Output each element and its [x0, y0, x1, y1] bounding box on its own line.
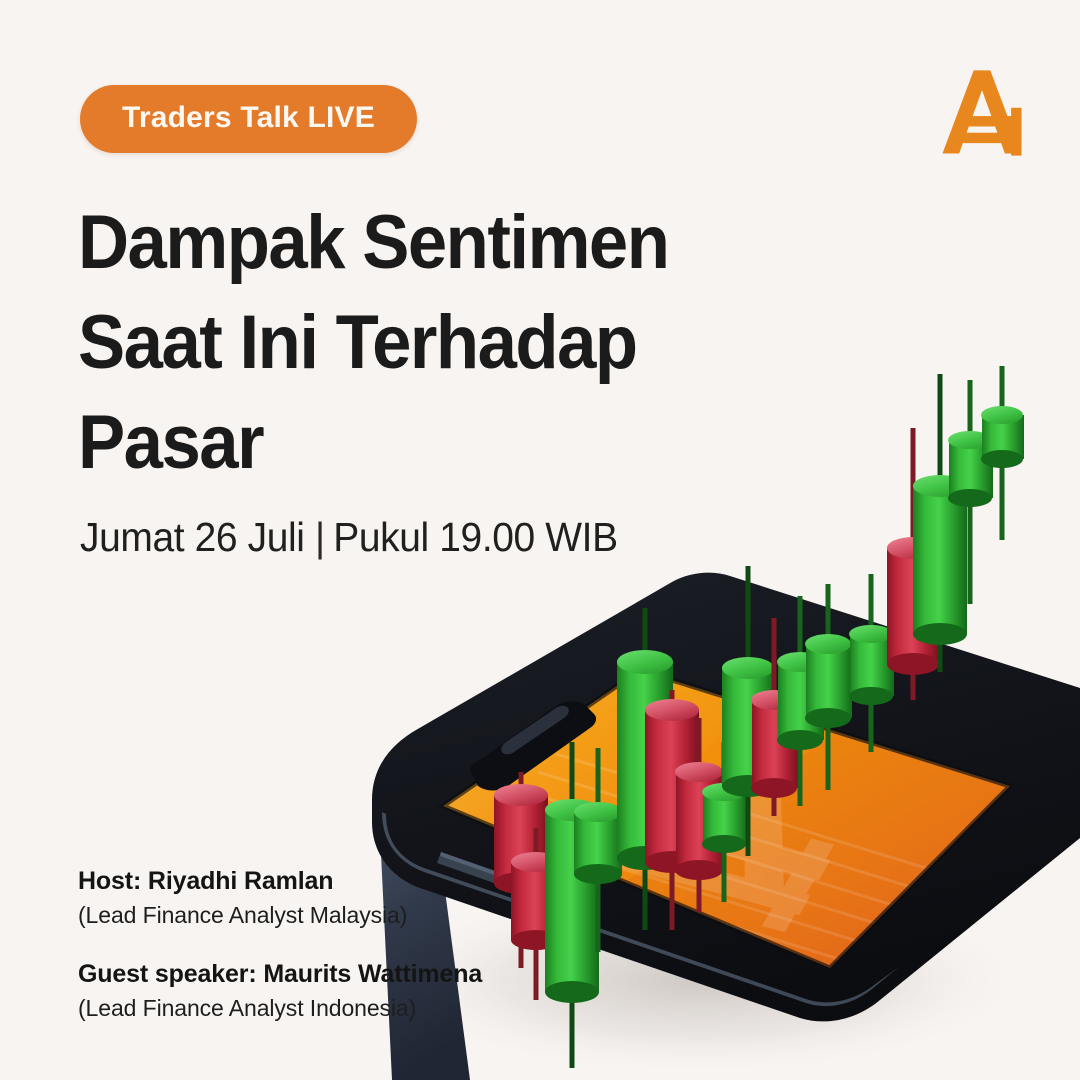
schedule-separator: | [315, 514, 325, 561]
live-badge-label: Traders Talk LIVE [122, 101, 375, 134]
host-name: Host: Riyadhi Ramlan [78, 866, 482, 897]
brand-logo [930, 62, 1034, 166]
guest-name: Guest speaker: Maurits Wattimena [78, 959, 482, 990]
letter-a-logo-icon [930, 62, 1034, 166]
headline-line-1: Dampak Sentimen [78, 193, 668, 293]
host-role: (Lead Finance Analyst Malaysia) [78, 901, 482, 931]
credit-guest: Guest speaker: Maurits Wattimena (Lead F… [78, 959, 482, 1024]
speaker-credits: Host: Riyadhi Ramlan (Lead Finance Analy… [78, 866, 482, 1052]
event-time: Pukul 19.00 WIB [333, 514, 617, 560]
guest-role: (Lead Finance Analyst Indonesia) [78, 994, 482, 1024]
poster-canvas: Traders Talk LIVE Dampak Sentimen Saat I… [0, 0, 1080, 1080]
page-title: Dampak Sentimen Saat Ini Terhadap Pasar [78, 193, 668, 493]
live-badge: Traders Talk LIVE [80, 85, 417, 153]
credit-host: Host: Riyadhi Ramlan (Lead Finance Analy… [78, 866, 482, 931]
headline-line-3: Pasar [78, 393, 668, 493]
schedule-line: Jumat 26 Juli|Pukul 19.00 WIB [80, 514, 618, 561]
headline-line-2: Saat Ini Terhadap [78, 293, 668, 393]
event-date: Jumat 26 Juli [80, 514, 305, 560]
